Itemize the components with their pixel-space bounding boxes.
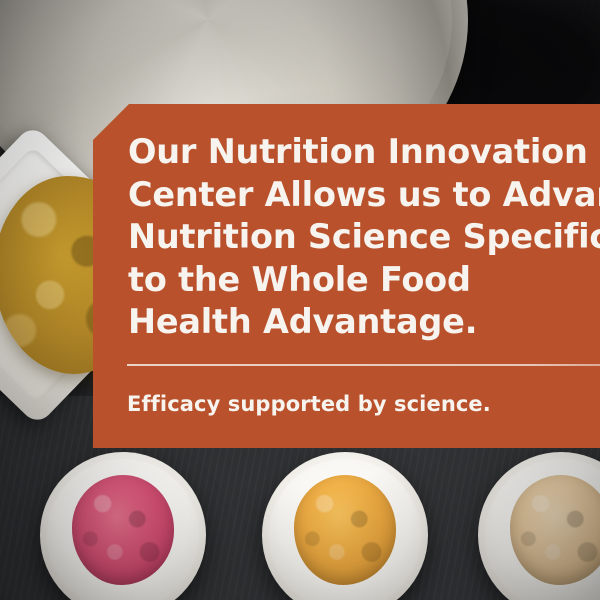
subtitle: Efficacy supported by science. (127, 392, 491, 416)
orange-text-panel: Our Nutrition Innovation Center Allows u… (93, 104, 600, 448)
headline-line-4: to the Whole Food (128, 259, 586, 302)
pink-berry-powder (72, 475, 175, 585)
headline-line-1: Our Nutrition Innovation (128, 131, 586, 174)
headline-line-2: Center Allows us to Advance (128, 174, 586, 217)
horizontal-divider (127, 364, 600, 366)
headline-line-3: Nutrition Science Specific (128, 216, 586, 259)
headline-line-5: Health Advantage. (128, 301, 586, 344)
promo-image: Our Nutrition Innovation Center Allows u… (0, 0, 600, 600)
orange-powder (294, 475, 397, 585)
headline: Our Nutrition Innovation Center Allows u… (128, 131, 586, 344)
